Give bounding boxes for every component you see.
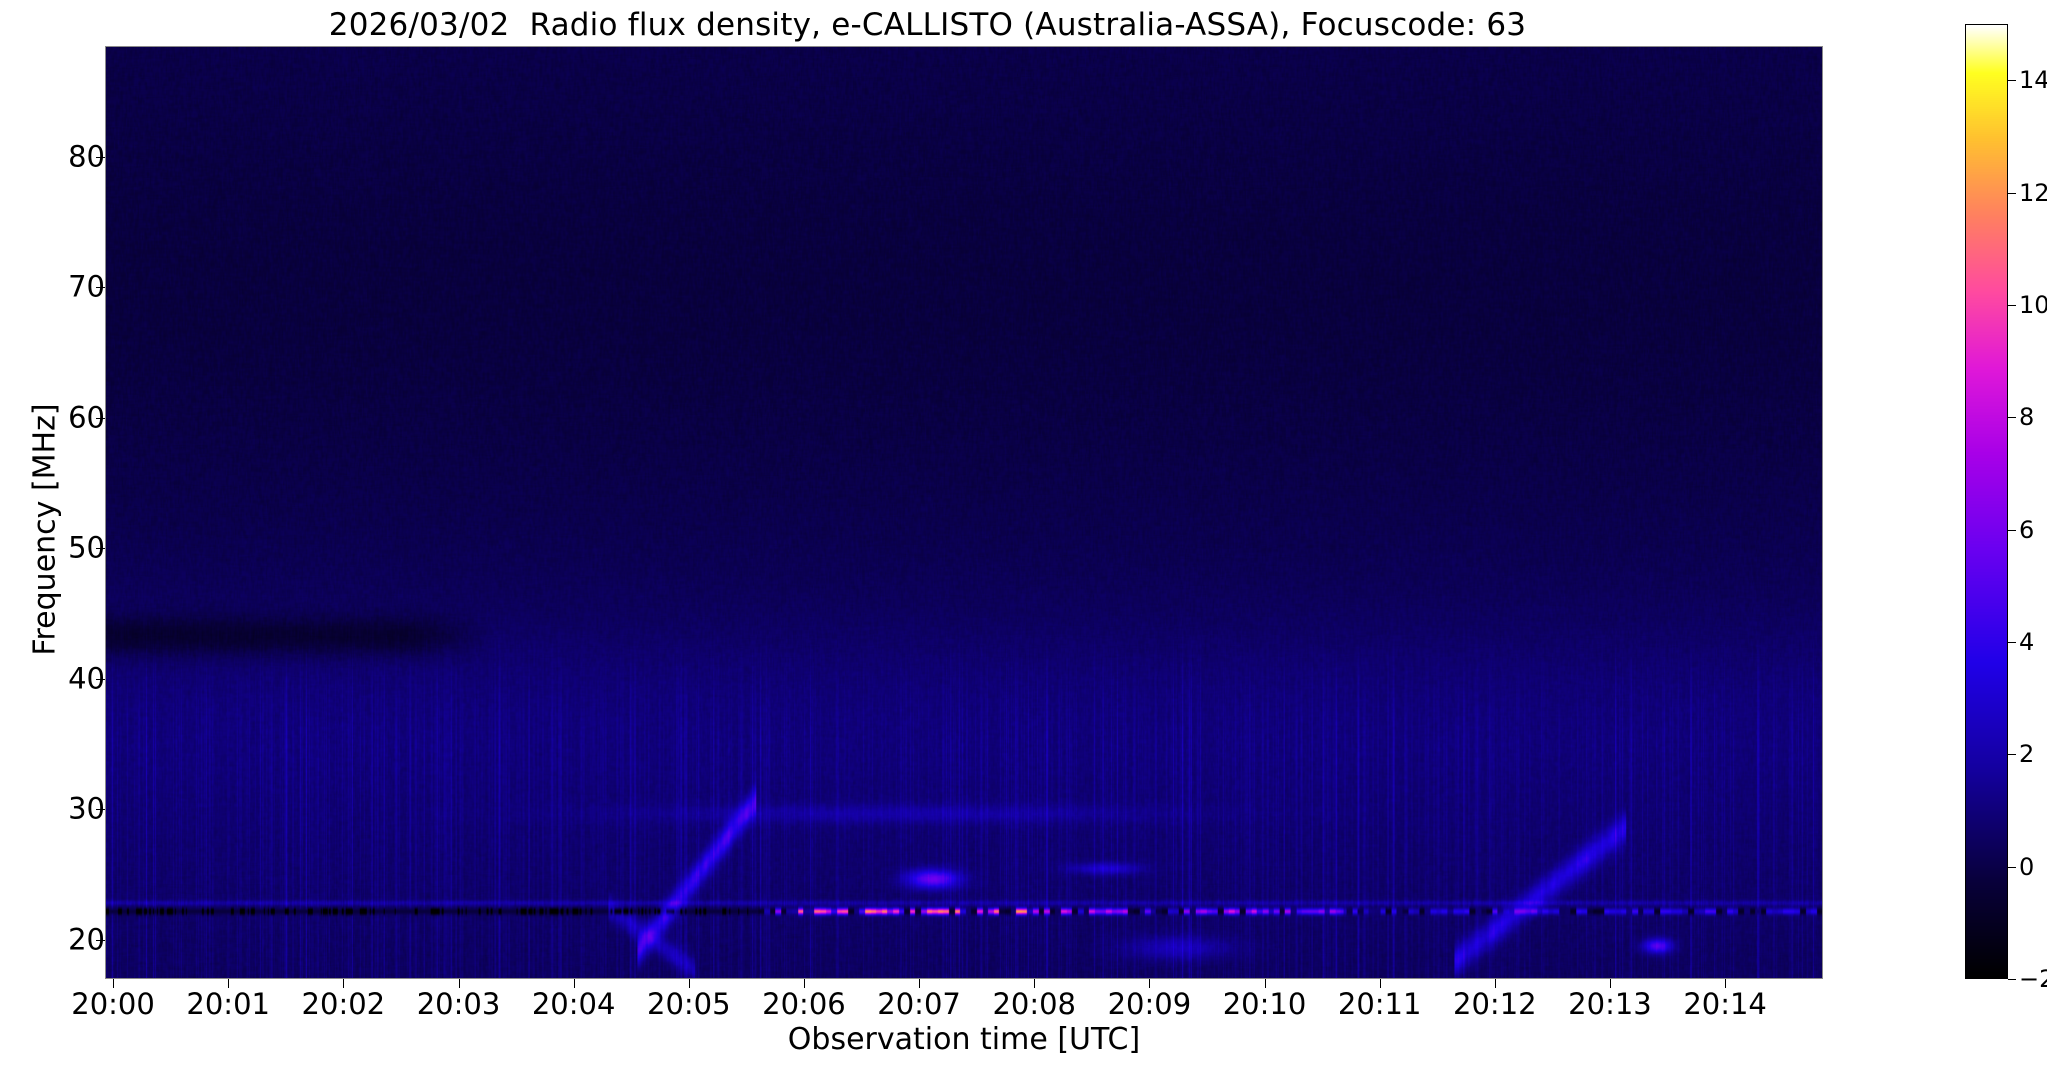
x-axis-label: Observation time [UTC] (105, 1022, 1823, 1057)
x-tick-mark (1610, 979, 1611, 988)
x-tick-mark (1034, 979, 1035, 988)
colorbar-tick-label: 14 (2019, 68, 2047, 92)
colorbar-gradient (1966, 25, 2007, 978)
x-tick-mark (574, 979, 575, 988)
colorbar-tick-mark (2008, 417, 2016, 418)
colorbar-tick-mark (2008, 530, 2016, 531)
x-tick-mark (1380, 979, 1381, 988)
colorbar-tick-mark (2008, 305, 2016, 306)
x-axis: 20:0020:0120:0220:0320:0420:0520:0620:07… (0, 0, 2047, 1067)
colorbar-tick-label: 12 (2019, 181, 2047, 205)
colorbar-tick-mark (2008, 979, 2016, 980)
colorbar-tick-mark (2008, 754, 2016, 755)
colorbar-tick-label: 6 (2019, 518, 2034, 542)
x-tick-mark (1265, 979, 1266, 988)
x-tick-mark (689, 979, 690, 988)
colorbar (1965, 24, 2008, 979)
colorbar-tick-label: −2 (2019, 967, 2047, 991)
x-tick-mark (1149, 979, 1150, 988)
colorbar-tick-label: 8 (2019, 405, 2034, 429)
x-tick-mark (459, 979, 460, 988)
x-tick-mark (1495, 979, 1496, 988)
colorbar-tick-mark (2008, 867, 2016, 868)
colorbar-tick-mark (2008, 193, 2016, 194)
x-tick-mark (228, 979, 229, 988)
colorbar-tick-label: 0 (2019, 855, 2034, 879)
colorbar-tick-label: 2 (2019, 742, 2034, 766)
x-tick-mark (1725, 979, 1726, 988)
x-tick-label: 20:14 (1635, 988, 1815, 1020)
colorbar-tick-mark (2008, 80, 2016, 81)
colorbar-tick-label: 4 (2019, 630, 2034, 654)
x-tick-mark (343, 979, 344, 988)
x-tick-mark (804, 979, 805, 988)
colorbar-tick-mark (2008, 642, 2016, 643)
colorbar-tick-label: 10 (2019, 293, 2047, 317)
spectrogram-figure: 2026/03/02 Radio flux density, e-CALLIST… (0, 0, 2047, 1067)
x-tick-mark (113, 979, 114, 988)
x-tick-mark (919, 979, 920, 988)
